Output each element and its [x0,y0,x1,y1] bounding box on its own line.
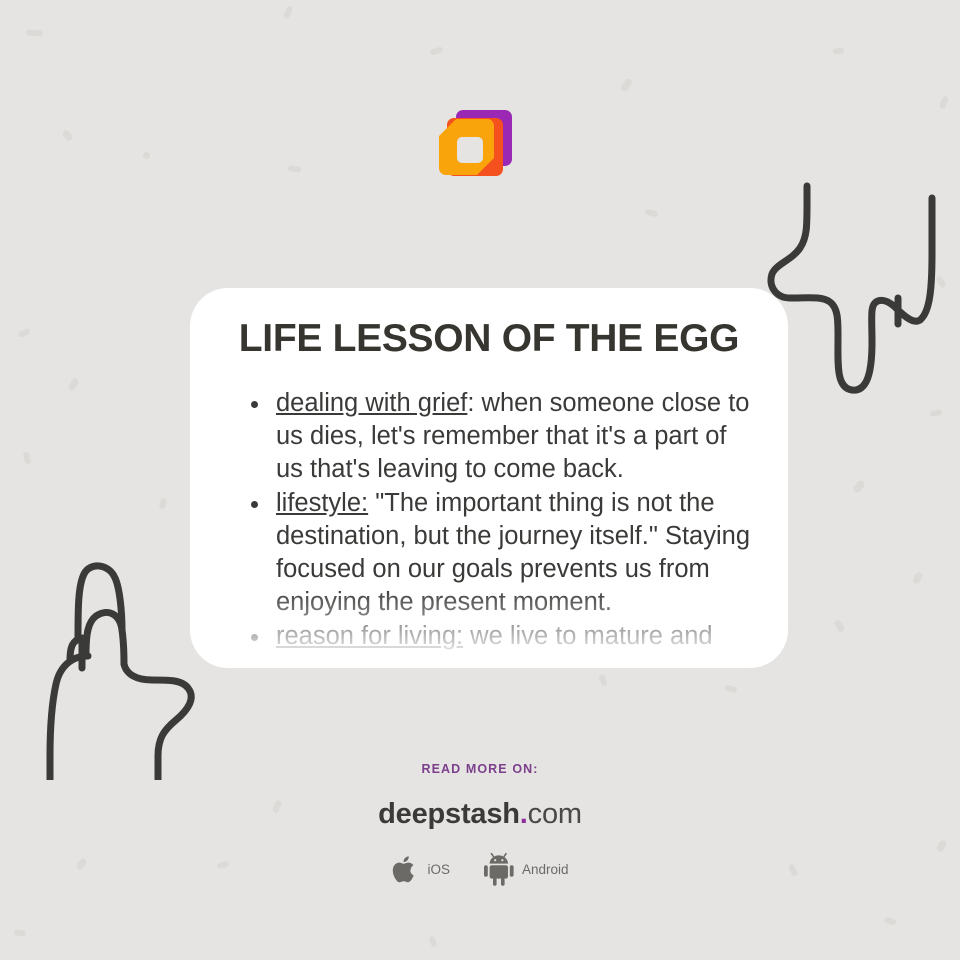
background-speck [143,152,150,159]
read-more-label: READ MORE ON: [0,762,960,776]
brand-name: deepstash [378,798,520,830]
background-speck [930,409,943,417]
background-speck [283,5,294,19]
apple-icon [391,853,419,886]
app-store-links: iOS Android [0,853,960,886]
idea-card-content: LIFE LESSON OF THE EGG dealing with grie… [190,288,788,668]
background-speck [598,673,608,686]
background-speck [26,30,43,37]
list-item: lifestyle: "The important thing is not t… [276,487,754,619]
list-item: dealing with grief: when someone close t… [276,387,754,486]
background-speck [428,935,438,947]
brand-tld: com [528,798,582,830]
logo-cutout [457,137,483,163]
deepstash-logo[interactable] [430,106,516,196]
background-speck [939,95,949,109]
background-speck [17,328,30,338]
ios-store-label: iOS [427,862,450,877]
footer: READ MORE ON: deepstash.com iOS [0,762,960,886]
background-speck [833,47,845,55]
background-speck [852,479,866,494]
background-speck [883,916,896,925]
idea-list: dealing with grief: when someone close t… [224,387,754,668]
android-icon [484,853,514,886]
background-speck [159,497,167,509]
background-speck [620,77,634,93]
idea-topic-link[interactable]: dealing with grief [276,389,467,417]
brand-dot: . [520,798,528,830]
background-speck [67,377,80,392]
background-speck [14,929,27,937]
pointing-hand-bottom-left-illustration [24,560,210,780]
ios-store-link[interactable]: iOS [391,853,450,886]
background-speck [912,571,924,585]
android-store-label: Android [522,862,569,877]
background-speck [429,46,443,56]
background-speck [724,684,737,693]
background-speck [61,129,73,142]
android-store-link[interactable]: Android [484,853,569,886]
idea-card: LIFE LESSON OF THE EGG dealing with grie… [190,288,788,668]
page-title: LIFE LESSON OF THE EGG [224,318,754,361]
list-item: reason for living: we live to mature and… [276,620,754,668]
background-speck [935,275,947,288]
idea-topic-link[interactable]: lifestyle: [276,489,368,517]
background-speck [833,619,845,633]
background-speck [288,165,302,173]
brand-wordmark[interactable]: deepstash.com [0,798,960,831]
idea-topic-link[interactable]: reason for living: [276,622,463,650]
background-speck [22,451,31,464]
background-speck [644,208,658,217]
